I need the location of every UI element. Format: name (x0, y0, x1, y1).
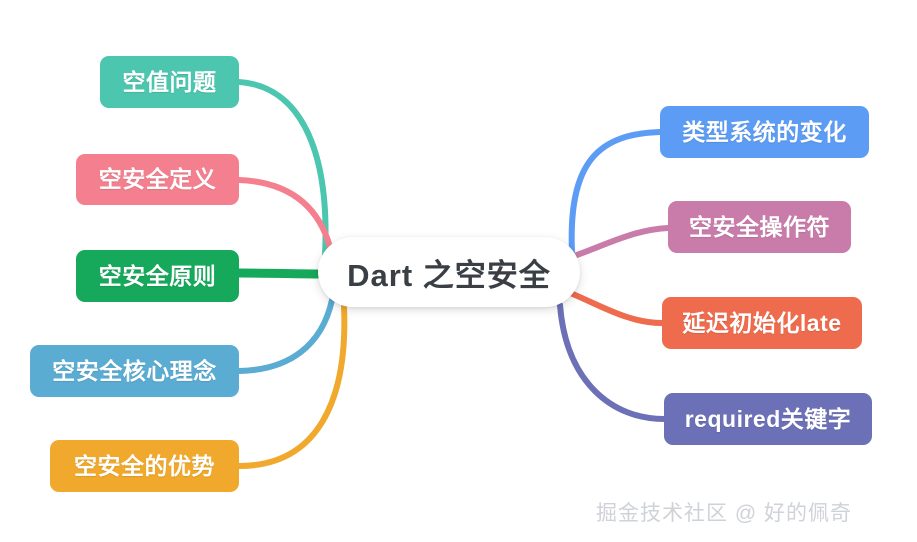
connector-3 (239, 273, 322, 274)
branch-node-label: 类型系统的变化 (682, 121, 847, 144)
center-node[interactable]: Dart 之空安全 (318, 237, 580, 307)
branch-node-9[interactable]: required关键字 (664, 393, 872, 445)
connector-8 (568, 292, 662, 323)
branch-node-8[interactable]: 延迟初始化late (662, 297, 862, 349)
connector-9 (560, 305, 664, 419)
connector-1 (239, 82, 326, 255)
branch-node-4[interactable]: 空安全核心理念 (30, 345, 239, 397)
connector-2 (239, 180, 330, 247)
branch-node-5[interactable]: 空安全的优势 (50, 440, 239, 492)
branch-node-label: 延迟初始化late (682, 312, 841, 335)
mindmap-canvas: Dart 之空安全 空值问题空安全定义空安全原则空安全核心理念空安全的优势类型系… (0, 0, 917, 542)
branch-node-7[interactable]: 空安全操作符 (668, 201, 851, 253)
branch-node-6[interactable]: 类型系统的变化 (660, 106, 869, 158)
branch-node-label: 空安全操作符 (689, 216, 830, 239)
branch-node-label: 空安全定义 (99, 168, 217, 191)
center-node-label: Dart 之空安全 (347, 250, 551, 295)
branch-node-2[interactable]: 空安全定义 (76, 154, 239, 205)
branch-node-label: 空值问题 (123, 71, 217, 94)
connector-5 (239, 306, 344, 466)
connector-4 (239, 300, 332, 371)
branch-node-3[interactable]: 空安全原则 (76, 250, 239, 302)
branch-node-1[interactable]: 空值问题 (100, 56, 239, 108)
connector-7 (568, 228, 668, 258)
branch-node-label: 空安全原则 (99, 265, 217, 288)
watermark: 掘金技术社区 @ 好的佩奇 (596, 497, 852, 527)
connector-6 (572, 132, 660, 252)
branch-node-label: required关键字 (685, 408, 852, 431)
branch-node-label: 空安全核心理念 (52, 360, 217, 383)
branch-node-label: 空安全的优势 (74, 455, 215, 478)
